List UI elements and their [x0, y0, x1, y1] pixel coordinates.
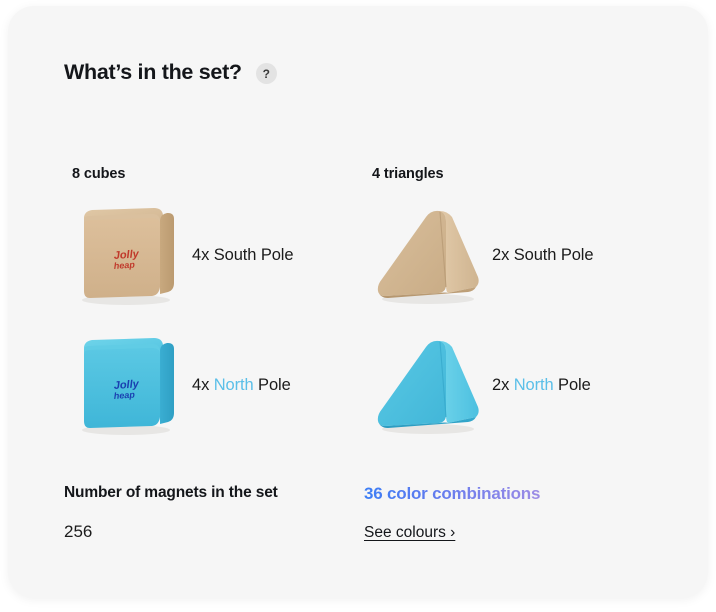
- screenshot-root: What’s in the set? ? 8 cubes: [0, 0, 716, 612]
- column-title-cubes: 8 cubes: [72, 166, 364, 182]
- variant-pole: North: [214, 376, 254, 394]
- variant-label-beige-cube: 4x South Pole: [192, 246, 293, 265]
- help-icon[interactable]: ?: [256, 63, 277, 84]
- variant-pole: South: [514, 246, 557, 264]
- variant-count: 4x: [192, 376, 209, 394]
- variant-count: 2x: [492, 246, 509, 264]
- variant-row-beige-cube: Jolly heap 4x South Pole: [64, 190, 364, 320]
- variant-count: 2x: [492, 376, 509, 394]
- see-colours-link[interactable]: See colours ›: [364, 524, 455, 542]
- variant-pole-suffix: Pole: [254, 376, 291, 394]
- variant-pole-suffix: Pole: [256, 246, 293, 264]
- magnets-title: Number of magnets in the set: [64, 484, 364, 502]
- column-title-triangles: 4 triangles: [372, 166, 664, 182]
- color-combinations-title: 36 color combinations: [364, 484, 664, 504]
- variant-row-beige-triangle: 2x South Pole: [364, 190, 664, 320]
- svg-text:heap: heap: [113, 390, 135, 401]
- variant-count: 4x: [192, 246, 209, 264]
- whats-in-the-set-card: What’s in the set? ? 8 cubes: [8, 6, 708, 598]
- variant-pole-suffix: Pole: [554, 376, 591, 394]
- product-columns: 8 cubes: [64, 166, 664, 450]
- cyan-triangle-image: [364, 329, 492, 441]
- variant-pole: North: [514, 376, 554, 394]
- page-title: What’s in the set?: [64, 60, 242, 85]
- variant-row-cyan-triangle: 2x North Pole: [364, 320, 664, 450]
- summary-section: Number of magnets in the set 256 36 colo…: [64, 484, 664, 542]
- column-cubes: 8 cubes: [64, 166, 364, 450]
- variant-label-cyan-triangle: 2x North Pole: [492, 376, 591, 395]
- beige-triangle-image: [364, 199, 492, 311]
- beige-cube-image: Jolly heap: [64, 199, 192, 311]
- column-triangles: 4 triangles: [364, 166, 664, 450]
- combinations-block: 36 color combinations See colours ›: [364, 484, 664, 542]
- variant-label-cyan-cube: 4x North Pole: [192, 376, 291, 395]
- variant-row-cyan-cube: Jolly heap 4x North Pole: [64, 320, 364, 450]
- variant-pole: South: [214, 246, 257, 264]
- variant-pole-suffix: Pole: [556, 246, 593, 264]
- magnets-value: 256: [64, 522, 364, 542]
- variant-label-beige-triangle: 2x South Pole: [492, 246, 593, 265]
- card-header: What’s in the set? ?: [64, 60, 277, 85]
- svg-text:heap: heap: [113, 260, 135, 271]
- cyan-cube-image: Jolly heap: [64, 329, 192, 441]
- magnets-block: Number of magnets in the set 256: [64, 484, 364, 542]
